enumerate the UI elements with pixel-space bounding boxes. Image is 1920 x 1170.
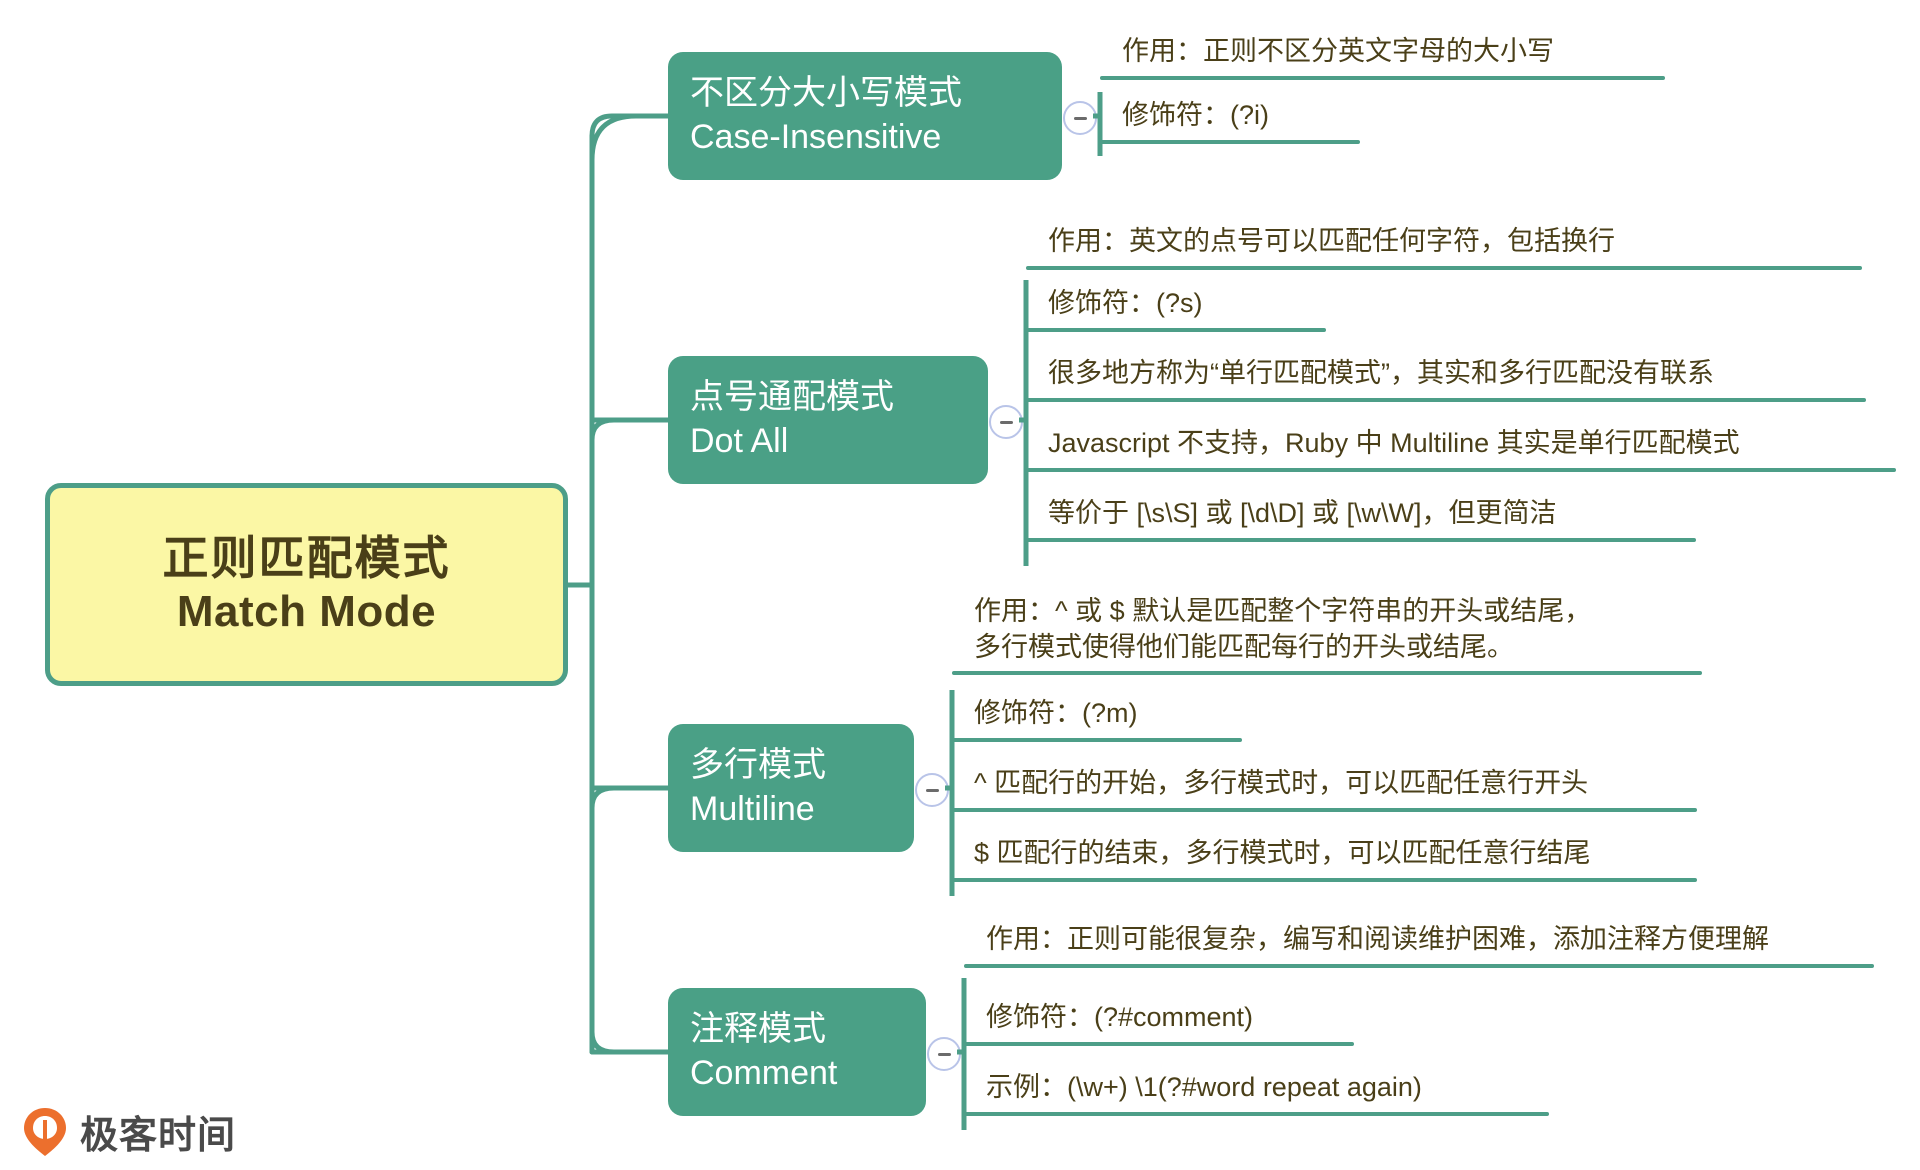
leaf-dot-all-2: 很多地方称为“单行匹配模式”，其实和多行匹配没有联系	[1026, 356, 1866, 402]
leaf-text: Javascript 不支持，Ruby 中 Multiline 其实是单行匹配模…	[1026, 426, 1896, 468]
leaf-underline	[964, 1042, 1354, 1046]
minus-icon	[1074, 117, 1087, 120]
leaf-underline	[952, 738, 1242, 742]
leaf-text: 修饰符：(?m)	[952, 696, 1242, 738]
leaf-multiline-1: 修饰符：(?m)	[952, 696, 1242, 742]
root-title-en: Match Mode	[177, 586, 436, 638]
branch-title-cn: 点号通配模式	[690, 376, 966, 420]
leaf-text: 修饰符：(?s)	[1026, 286, 1326, 328]
minus-icon	[938, 1053, 951, 1056]
leaf-text: 修饰符：(?i)	[1100, 98, 1360, 140]
leaf-text: $ 匹配行的结束，多行模式时，可以匹配任意行结尾	[952, 836, 1697, 878]
leaf-underline	[1100, 140, 1360, 144]
leaf-text: 作用：^ 或 $ 默认是匹配整个字符串的开头或结尾， 多行模式使得他们能匹配每行…	[952, 594, 1702, 671]
leaf-underline	[952, 808, 1697, 812]
leaf-text: ^ 匹配行的开始，多行模式时，可以匹配任意行开头	[952, 766, 1697, 808]
leaf-underline	[1026, 266, 1862, 270]
branch-node-comment[interactable]: 注释模式 Comment	[668, 988, 926, 1116]
branch-node-multiline[interactable]: 多行模式 Multiline	[668, 724, 914, 852]
leaf-underline	[952, 878, 1697, 882]
collapse-toggle-multiline[interactable]	[915, 773, 949, 807]
collapse-toggle-dot-all[interactable]	[989, 405, 1023, 439]
branch-title-cn: 不区分大小写模式	[690, 72, 1040, 116]
branch-title-cn: 多行模式	[690, 744, 892, 788]
leaf-underline	[1026, 468, 1896, 472]
branch-title-cn: 注释模式	[690, 1008, 904, 1052]
leaf-text: 作用：正则不区分英文字母的大小写	[1100, 34, 1665, 76]
brand-logo: 极客时间	[22, 1104, 236, 1159]
collapse-toggle-case-insensitive[interactable]	[1063, 101, 1097, 135]
leaf-underline	[964, 1112, 1549, 1116]
leaf-text: 作用：正则可能很复杂，编写和阅读维护困难，添加注释方便理解	[964, 922, 1874, 964]
leaf-case-insensitive-1: 修饰符：(?i)	[1100, 98, 1360, 144]
leaf-multiline-2: ^ 匹配行的开始，多行模式时，可以匹配任意行开头	[952, 766, 1697, 812]
leaf-text: 等价于 [\s\S] 或 [\d\D] 或 [\w\W]，但更简洁	[1026, 496, 1696, 538]
leaf-comment-2: 示例：(\w+) \1(?#word repeat again)	[964, 1070, 1549, 1116]
branch-node-dot-all[interactable]: 点号通配模式 Dot All	[668, 356, 988, 484]
leaf-underline	[1026, 398, 1866, 402]
geekbang-pin-icon	[22, 1107, 68, 1157]
leaf-dot-all-0: 作用：英文的点号可以匹配任何字符，包括换行	[1026, 224, 1862, 270]
branch-title-en: Comment	[690, 1052, 904, 1096]
leaf-underline	[1026, 538, 1696, 542]
leaf-comment-1: 修饰符：(?#comment)	[964, 1000, 1354, 1046]
root-title-cn: 正则匹配模式	[163, 531, 451, 585]
leaf-underline	[1026, 328, 1326, 332]
branch-title-en: Case-Insensitive	[690, 116, 1040, 160]
branch-title-en: Multiline	[690, 788, 892, 832]
leaf-underline	[1100, 76, 1665, 80]
leaf-text: 作用：英文的点号可以匹配任何字符，包括换行	[1026, 224, 1862, 266]
leaf-multiline-3: $ 匹配行的结束，多行模式时，可以匹配任意行结尾	[952, 836, 1697, 882]
root-node[interactable]: 正则匹配模式 Match Mode	[45, 483, 568, 686]
leaf-dot-all-3: Javascript 不支持，Ruby 中 Multiline 其实是单行匹配模…	[1026, 426, 1896, 472]
leaf-underline	[964, 964, 1874, 968]
leaf-case-insensitive-0: 作用：正则不区分英文字母的大小写	[1100, 34, 1665, 80]
leaf-dot-all-4: 等价于 [\s\S] 或 [\d\D] 或 [\w\W]，但更简洁	[1026, 496, 1696, 542]
branch-title-en: Dot All	[690, 420, 966, 464]
leaf-multiline-0: 作用：^ 或 $ 默认是匹配整个字符串的开头或结尾， 多行模式使得他们能匹配每行…	[952, 594, 1702, 675]
minus-icon	[926, 789, 939, 792]
branch-node-case-insensitive[interactable]: 不区分大小写模式 Case-Insensitive	[668, 52, 1062, 180]
leaf-text: 修饰符：(?#comment)	[964, 1000, 1354, 1042]
leaf-comment-0: 作用：正则可能很复杂，编写和阅读维护困难，添加注释方便理解	[964, 922, 1874, 968]
leaf-underline	[952, 671, 1702, 675]
leaf-text: 示例：(\w+) \1(?#word repeat again)	[964, 1070, 1549, 1112]
brand-logo-text: 极客时间	[80, 1104, 236, 1159]
leaf-dot-all-1: 修饰符：(?s)	[1026, 286, 1326, 332]
leaf-text: 很多地方称为“单行匹配模式”，其实和多行匹配没有联系	[1026, 356, 1866, 398]
collapse-toggle-comment[interactable]	[927, 1037, 961, 1071]
mindmap-canvas: 正则匹配模式 Match Mode 不区分大小写模式 Case-Insensit…	[0, 0, 1920, 1170]
minus-icon	[1000, 421, 1013, 424]
